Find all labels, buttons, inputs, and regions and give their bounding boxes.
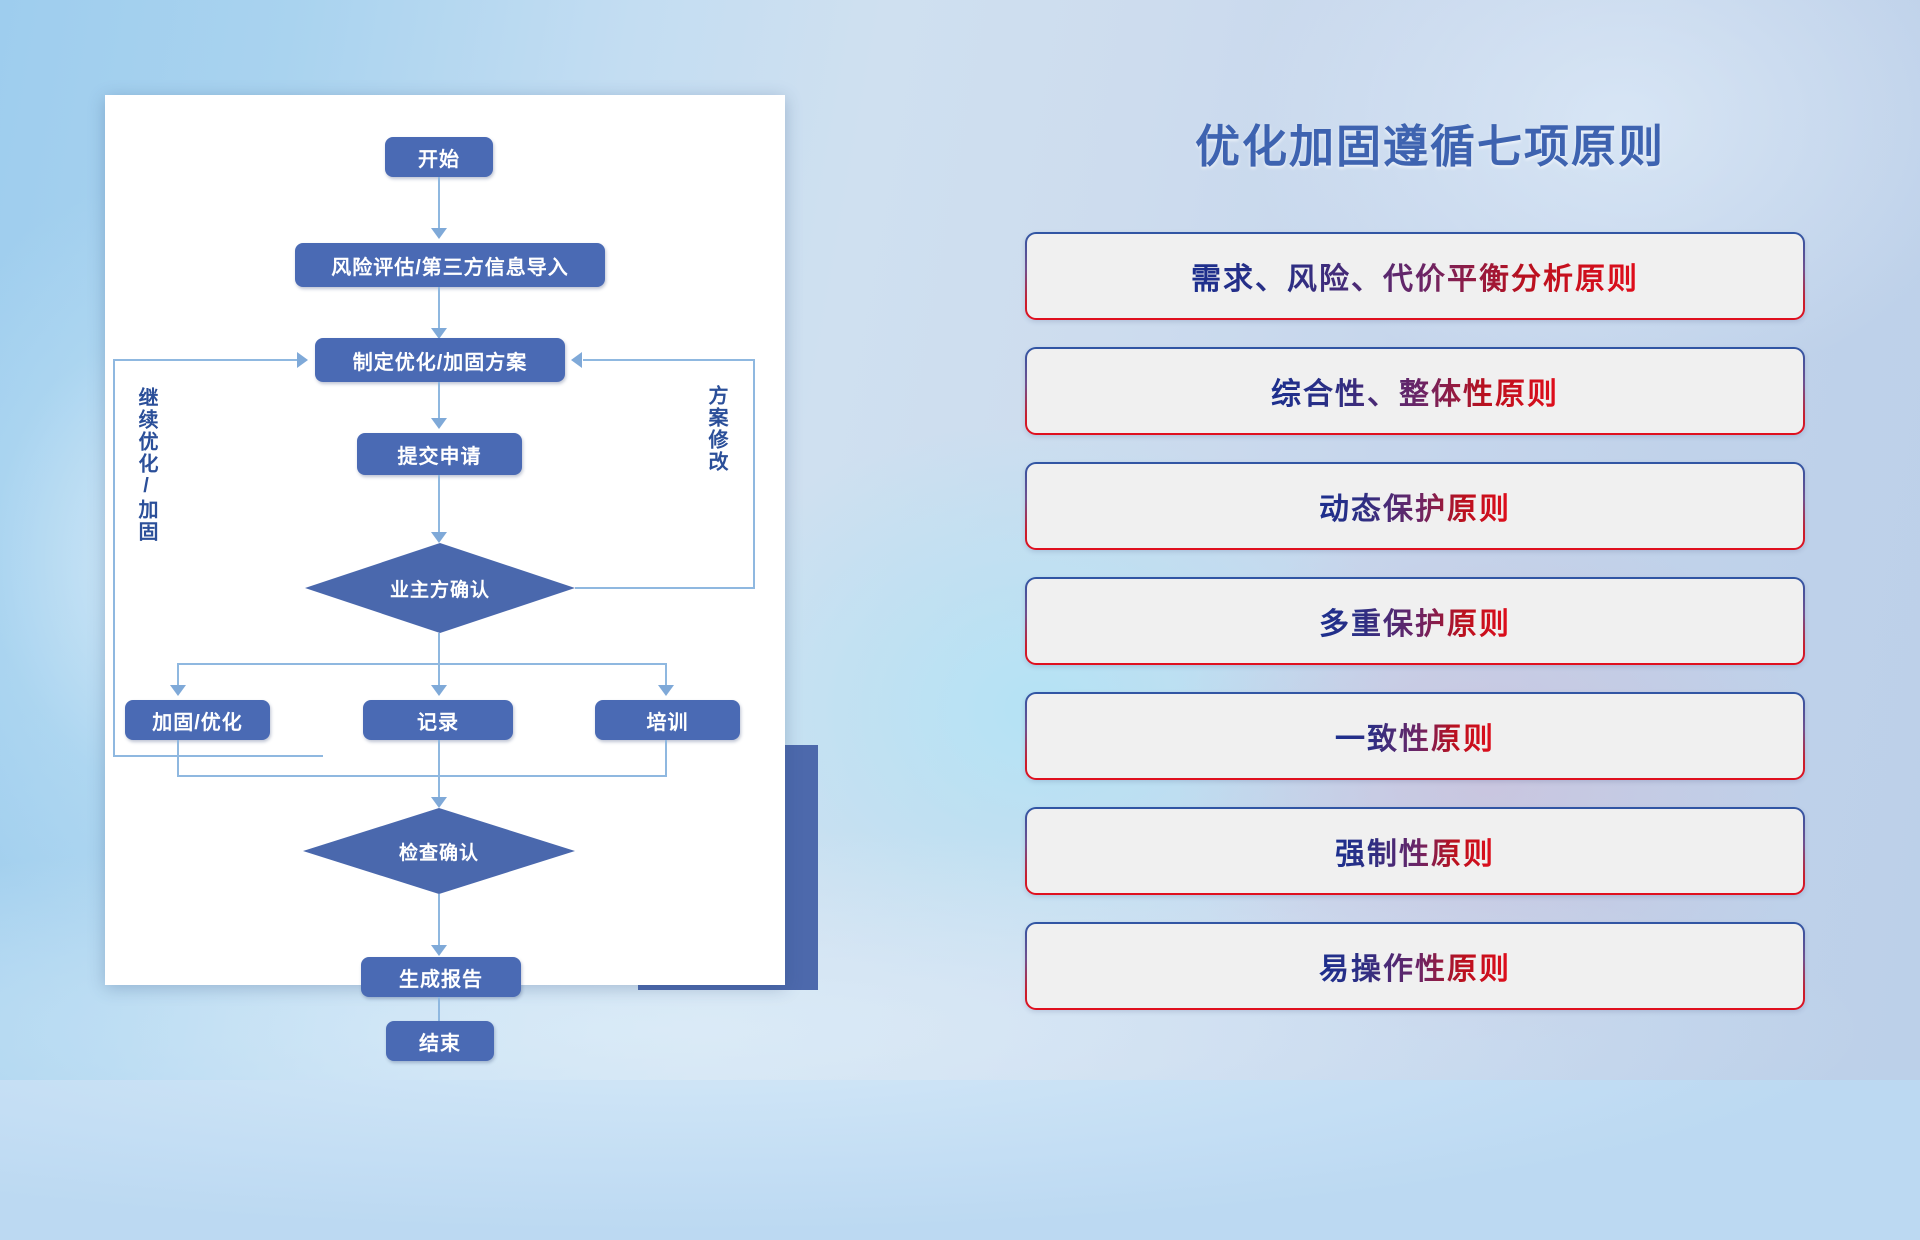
principle-label: 需求、风险、代价平衡分析原则 (1191, 254, 1639, 298)
principle-label: 易操作性原则 (1319, 944, 1511, 988)
flow-node-make-plan-label: 制定优化/加固方案 (353, 346, 528, 375)
arrow-down-to-reinforce (170, 685, 186, 696)
arrow-right-into-plan (297, 352, 308, 368)
arrow-down-start-to-risk (431, 228, 447, 239)
principle-card-5[interactable]: 一致性原则 (1025, 692, 1805, 780)
flow-node-owner-confirm[interactable]: 业主方确认 (305, 543, 575, 633)
connector-branch-top (177, 663, 667, 665)
principle-label: 强制性原则 (1335, 829, 1495, 873)
page-title: 优化加固遵循七项原则 (1150, 110, 1710, 175)
principle-card-1[interactable]: 需求、风险、代价平衡分析原则 (1025, 232, 1805, 320)
arrow-left-into-plan (571, 352, 582, 368)
flow-node-owner-confirm-label: 业主方确认 (390, 575, 490, 602)
flow-node-end-label: 结束 (419, 1027, 461, 1056)
flow-node-end[interactable]: 结束 (386, 1021, 494, 1061)
flow-node-check-confirm-label: 检查确认 (399, 838, 479, 865)
connector-submit-to-owner (438, 475, 440, 537)
connector-check-to-report (438, 894, 440, 950)
principle-label: 动态保护原则 (1319, 484, 1511, 528)
principles-list: 需求、风险、代价平衡分析原则 综合性、整体性原则 动态保护原则 多重保护原则 一… (1025, 232, 1805, 1037)
flow-node-record-label: 记录 (417, 706, 459, 735)
connector-record-down (438, 740, 440, 776)
connector-training-down (665, 740, 667, 776)
flowchart-diagram: 开始 风险评估/第三方信息导入 制定优化/加固方案 提交申请 业主方确认 (105, 95, 785, 985)
connector-start-to-risk (438, 177, 440, 233)
flowchart-panel: 开始 风险评估/第三方信息导入 制定优化/加固方案 提交申请 业主方确认 (105, 95, 785, 985)
arrow-down-to-report (431, 945, 447, 956)
flow-node-training-label: 培训 (647, 706, 689, 735)
principle-label: 综合性、整体性原则 (1271, 369, 1559, 413)
flow-node-make-plan[interactable]: 制定优化/加固方案 (315, 338, 565, 382)
flow-node-risk-assessment[interactable]: 风险评估/第三方信息导入 (295, 243, 605, 287)
arrow-down-plan-to-submit (431, 418, 447, 429)
principle-card-4[interactable]: 多重保护原则 (1025, 577, 1805, 665)
flow-node-generate-report-label: 生成报告 (399, 963, 483, 992)
connector-owner-down (438, 633, 440, 665)
flow-node-start-label: 开始 (418, 143, 460, 172)
flow-node-risk-assessment-label: 风险评估/第三方信息导入 (331, 251, 569, 280)
principle-card-6[interactable]: 强制性原则 (1025, 807, 1805, 895)
principle-label: 一致性原则 (1335, 714, 1495, 758)
connector-left-vertical (113, 359, 115, 756)
connector-owner-to-right (575, 587, 755, 589)
edge-label-plan-revision: 方案修改 (705, 385, 726, 473)
connector-reinforce-down (177, 740, 179, 776)
connector-merge-bottom (177, 775, 667, 777)
flow-node-start[interactable]: 开始 (385, 137, 493, 177)
principle-card-3[interactable]: 动态保护原则 (1025, 462, 1805, 550)
connector-left-to-plan (113, 359, 298, 361)
flow-node-record[interactable]: 记录 (363, 700, 513, 740)
flow-node-reinforce-optimize-label: 加固/优化 (152, 706, 243, 735)
flow-node-submit-application[interactable]: 提交申请 (357, 433, 522, 475)
connector-right-to-plan (583, 359, 755, 361)
connector-check-to-left-loop (113, 755, 323, 757)
arrow-down-to-record (431, 685, 447, 696)
connector-right-vertical (753, 360, 755, 589)
principle-label: 多重保护原则 (1319, 599, 1511, 643)
principle-card-7[interactable]: 易操作性原则 (1025, 922, 1805, 1010)
flow-node-generate-report[interactable]: 生成报告 (361, 957, 521, 997)
flow-node-submit-application-label: 提交申请 (398, 440, 482, 469)
arrow-down-to-check (431, 797, 447, 808)
flow-node-reinforce-optimize[interactable]: 加固/优化 (125, 700, 270, 740)
flow-node-training[interactable]: 培训 (595, 700, 740, 740)
arrow-down-submit-to-owner (431, 532, 447, 543)
flow-node-check-confirm[interactable]: 检查确认 (303, 808, 575, 894)
arrow-down-to-training (658, 685, 674, 696)
edge-label-continue-optimize: 继续优化/加固 (135, 387, 156, 543)
principle-card-2[interactable]: 综合性、整体性原则 (1025, 347, 1805, 435)
